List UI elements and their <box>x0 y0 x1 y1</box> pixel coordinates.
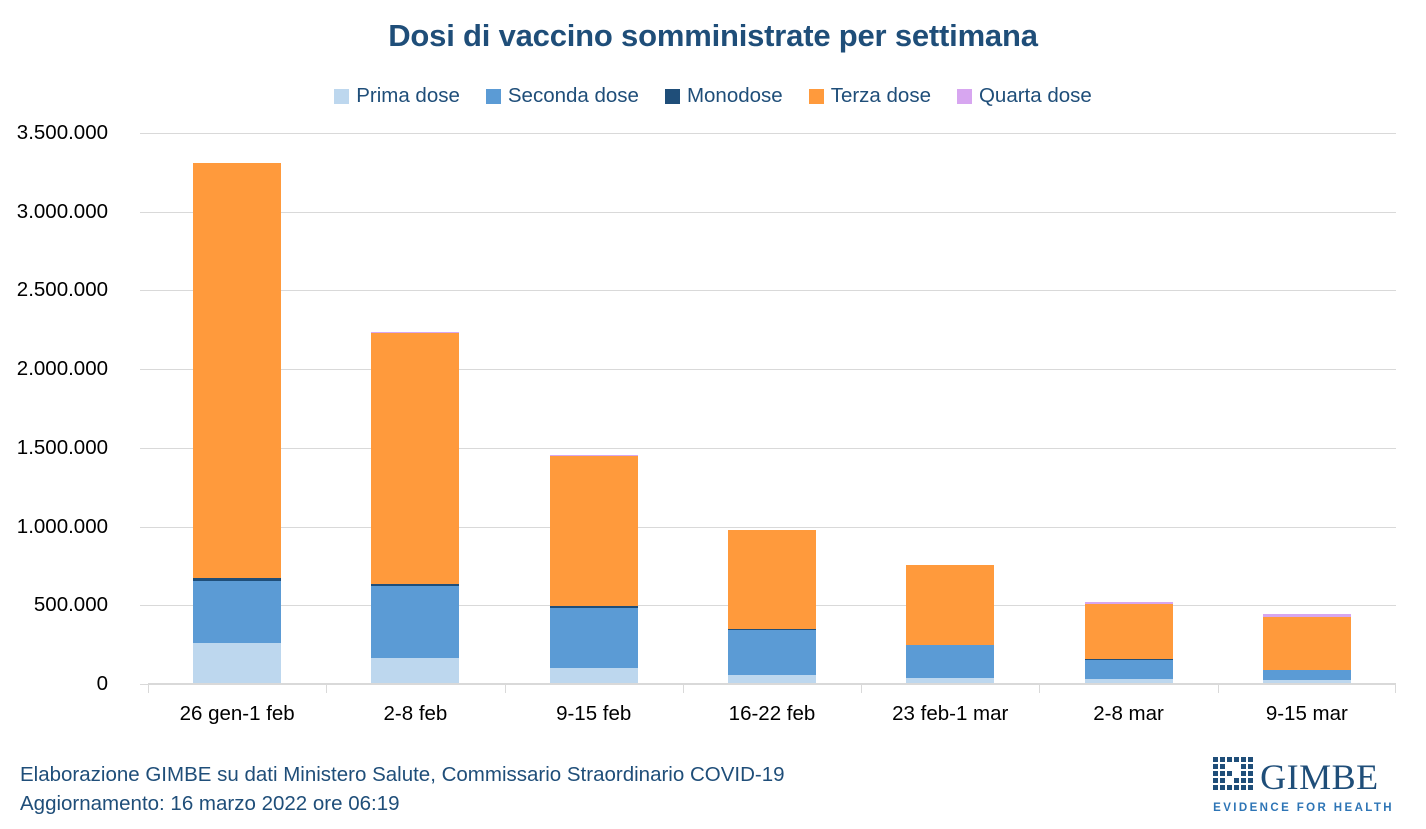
bar-segment-terza-dose[interactable] <box>193 163 281 578</box>
x-axis-category: 9-15 feb <box>505 684 683 730</box>
bar-stack[interactable] <box>1085 602 1173 684</box>
y-axis-tick-mark <box>140 527 148 528</box>
bar-group <box>1039 133 1217 684</box>
legend-item-seconda-dose[interactable]: Seconda dose <box>486 84 639 108</box>
bar-segment-seconda-dose[interactable] <box>371 586 459 658</box>
x-axis-tick-label: 9-15 feb <box>505 702 683 726</box>
x-axis-tick-mark <box>148 684 149 693</box>
gimbe-tagline: EVIDENCE FOR HEALTH <box>1213 802 1394 814</box>
bar-stack[interactable] <box>371 332 459 684</box>
bar-segment-seconda-dose[interactable] <box>1085 660 1173 679</box>
gimbe-grid-icon <box>1213 757 1253 799</box>
x-axis-tick-label: 26 gen-1 feb <box>148 702 326 726</box>
x-axis-category: 23 feb-1 mar <box>861 684 1039 730</box>
bar-group <box>326 133 504 684</box>
x-axis-tick-label: 2-8 mar <box>1039 702 1217 726</box>
bar-segment-seconda-dose[interactable] <box>906 645 994 678</box>
x-axis-tick-mark <box>326 684 327 693</box>
bar-segment-prima-dose[interactable] <box>193 643 281 684</box>
legend-item-monodose[interactable]: Monodose <box>665 84 783 108</box>
bar-segment-terza-dose[interactable] <box>1263 617 1351 671</box>
legend-swatch-icon <box>665 89 680 104</box>
legend-label: Terza dose <box>831 84 931 108</box>
bar-group <box>505 133 683 684</box>
legend-label: Prima dose <box>356 84 460 108</box>
y-axis-tick-label: 2.500.000 <box>0 278 108 302</box>
bar-segment-seconda-dose[interactable] <box>728 630 816 675</box>
x-axis-tick-mark <box>1395 684 1396 693</box>
bar-stack[interactable] <box>906 565 994 684</box>
legend-swatch-icon <box>486 89 501 104</box>
bar-segment-terza-dose[interactable] <box>728 530 816 629</box>
bar-segment-seconda-dose[interactable] <box>1263 670 1351 680</box>
x-axis-tick-mark <box>1218 684 1219 693</box>
footer-source: Elaborazione GIMBE su dati Ministero Sal… <box>20 760 785 789</box>
legend-swatch-icon <box>809 89 824 104</box>
x-axis: 26 gen-1 feb2-8 feb9-15 feb16-22 feb23 f… <box>148 684 1396 730</box>
bar-segment-terza-dose[interactable] <box>371 333 459 584</box>
legend-label: Monodose <box>687 84 783 108</box>
y-axis-tick-label: 0 <box>0 672 108 696</box>
footer-note: Elaborazione GIMBE su dati Ministero Sal… <box>20 760 785 818</box>
x-axis-category: 16-22 feb <box>683 684 861 730</box>
x-axis-category: 9-15 mar <box>1218 684 1396 730</box>
y-axis-tick-mark <box>140 605 148 606</box>
x-axis-tick-mark <box>505 684 506 693</box>
y-axis-tick-label: 1.500.000 <box>0 436 108 460</box>
y-axis-tick-mark <box>140 290 148 291</box>
gimbe-logo: GIMBE EVIDENCE FOR HEALTH <box>1213 757 1394 814</box>
chart-legend: Prima doseSeconda doseMonodoseTerza dose… <box>0 84 1426 108</box>
x-axis-tick-mark <box>861 684 862 693</box>
bar-stack[interactable] <box>1263 614 1351 684</box>
bar-group <box>148 133 326 684</box>
bar-segment-seconda-dose[interactable] <box>193 581 281 643</box>
y-axis-tick-mark <box>140 684 148 685</box>
bar-segment-terza-dose[interactable] <box>906 565 994 645</box>
bar-group <box>683 133 861 684</box>
bar-segment-terza-dose[interactable] <box>1085 604 1173 659</box>
y-axis-tick-label: 2.000.000 <box>0 357 108 381</box>
x-axis-category: 2-8 feb <box>326 684 504 730</box>
bar-segment-terza-dose[interactable] <box>550 456 638 606</box>
bar-stack[interactable] <box>193 163 281 684</box>
y-axis-tick-label: 1.000.000 <box>0 515 108 539</box>
bar-group <box>861 133 1039 684</box>
bar-segment-seconda-dose[interactable] <box>550 608 638 669</box>
y-axis-tick-mark <box>140 448 148 449</box>
x-axis-tick-label: 16-22 feb <box>683 702 861 726</box>
y-axis-tick-label: 3.000.000 <box>0 200 108 224</box>
legend-item-prima-dose[interactable]: Prima dose <box>334 84 460 108</box>
bar-segment-prima-dose[interactable] <box>550 668 638 684</box>
x-axis-tick-labels: 26 gen-1 feb2-8 feb9-15 feb16-22 feb23 f… <box>148 684 1396 730</box>
legend-swatch-icon <box>957 89 972 104</box>
plot-area: 0500.0001.000.0001.500.0002.000.0002.500… <box>148 133 1396 684</box>
x-axis-category: 26 gen-1 feb <box>148 684 326 730</box>
y-axis-tick-label: 500.000 <box>0 593 108 617</box>
x-axis-tick-label: 2-8 feb <box>326 702 504 726</box>
x-axis-tick-mark <box>683 684 684 693</box>
y-axis-tick-mark <box>140 369 148 370</box>
bar-group <box>1218 133 1396 684</box>
x-axis-tick-label: 9-15 mar <box>1218 702 1396 726</box>
bar-segment-prima-dose[interactable] <box>371 658 459 684</box>
legend-item-quarta-dose[interactable]: Quarta dose <box>957 84 1092 108</box>
y-axis-tick-mark <box>140 212 148 213</box>
y-axis-tick-mark <box>140 133 148 134</box>
footer-updated: Aggiornamento: 16 marzo 2022 ore 06:19 <box>20 789 785 818</box>
x-axis-category: 2-8 mar <box>1039 684 1217 730</box>
legend-label: Seconda dose <box>508 84 639 108</box>
gimbe-wordmark: GIMBE <box>1260 760 1379 795</box>
x-axis-tick-mark <box>1039 684 1040 693</box>
x-axis-tick-label: 23 feb-1 mar <box>861 702 1039 726</box>
bar-stack[interactable] <box>728 530 816 684</box>
chart-title: Dosi di vaccino somministrate per settim… <box>0 18 1426 54</box>
bar-series-container <box>148 133 1396 684</box>
y-axis-tick-label: 3.500.000 <box>0 121 108 145</box>
legend-swatch-icon <box>334 89 349 104</box>
legend-item-terza-dose[interactable]: Terza dose <box>809 84 931 108</box>
bar-stack[interactable] <box>550 455 638 684</box>
legend-label: Quarta dose <box>979 84 1092 108</box>
